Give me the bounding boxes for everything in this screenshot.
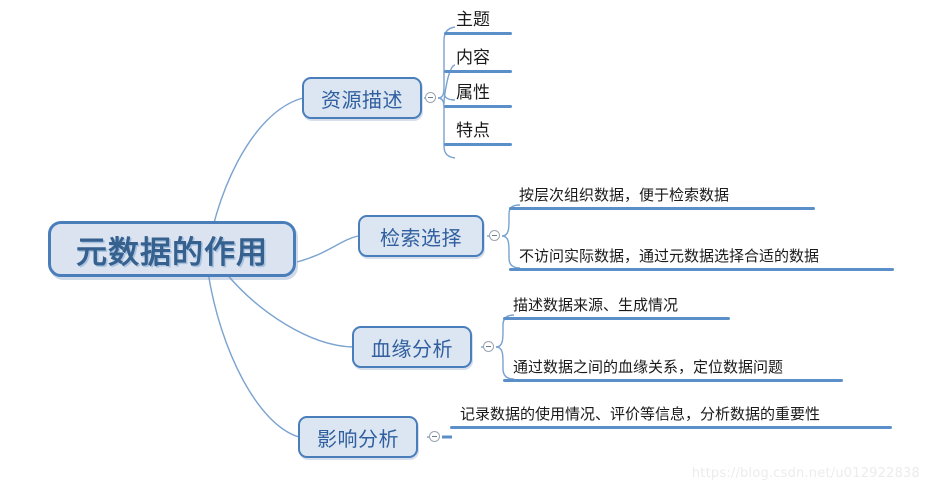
root-node-label: 元数据的作用 xyxy=(76,227,268,272)
leaf-label: 不访问实际数据，通过元数据选择合适的数据 xyxy=(509,247,894,268)
leaf-underline xyxy=(509,268,894,271)
leaf-label: 主题 xyxy=(444,11,512,32)
topic-node-lineage-analysis[interactable]: 血缘分析 xyxy=(352,326,472,368)
leaf-item[interactable]: 特点 xyxy=(444,118,512,146)
minus-circle-icon-lineage-analysis[interactable] xyxy=(483,341,494,352)
topic-label: 检索选择 xyxy=(380,222,462,251)
leaf-item[interactable]: 记录数据的使用情况、评价等信息，分析数据的重要性 xyxy=(450,405,892,429)
leaf-underline xyxy=(503,379,843,382)
root-node[interactable]: 元数据的作用 xyxy=(48,221,296,277)
leaf-underline xyxy=(444,70,512,73)
leaf-item[interactable]: 不访问实际数据，通过元数据选择合适的数据 xyxy=(509,247,894,271)
minus-circle-icon-retrieval-selection[interactable] xyxy=(489,230,500,241)
topic-node-impact-analysis[interactable]: 影响分析 xyxy=(298,416,418,458)
minus-circle-icon-resource-description[interactable] xyxy=(425,92,436,103)
leaf-label: 描述数据来源、生成情况 xyxy=(503,296,730,317)
watermark-text: https://blog.csdn.net/u012922838 xyxy=(692,466,920,481)
topic-node-resource-description[interactable]: 资源描述 xyxy=(302,77,422,119)
leaf-item[interactable]: 内容 xyxy=(444,45,512,73)
leaf-label: 通过数据之间的血缘关系，定位数据问题 xyxy=(503,358,843,379)
leaf-label: 属性 xyxy=(444,84,512,105)
topic-label: 资源描述 xyxy=(321,84,403,113)
leaf-label: 特点 xyxy=(444,122,512,143)
leaf-item[interactable]: 通过数据之间的血缘关系，定位数据问题 xyxy=(503,358,843,382)
leaf-item[interactable]: 主题 xyxy=(444,7,512,35)
mindmap-canvas: 元数据的作用 资源描述 主题 内容 属性 特点 检索选择 按层次组织数据，便于检… xyxy=(0,0,926,487)
leaf-underline xyxy=(444,143,512,146)
leaf-underline xyxy=(509,207,815,210)
topic-label: 影响分析 xyxy=(317,423,399,452)
leaf-underline xyxy=(503,317,730,320)
topic-node-retrieval-selection[interactable]: 检索选择 xyxy=(358,215,484,257)
leaf-label: 记录数据的使用情况、评价等信息，分析数据的重要性 xyxy=(450,405,892,426)
leaf-underline xyxy=(450,426,892,429)
leaf-item[interactable]: 按层次组织数据，便于检索数据 xyxy=(509,186,815,210)
topic-label: 血缘分析 xyxy=(371,333,453,362)
leaf-underline xyxy=(444,32,512,35)
leaf-label: 内容 xyxy=(444,49,512,70)
leaf-underline xyxy=(444,105,512,108)
leaf-item[interactable]: 描述数据来源、生成情况 xyxy=(503,296,730,320)
leaf-item[interactable]: 属性 xyxy=(444,80,512,108)
minus-circle-icon-impact-analysis[interactable] xyxy=(429,431,440,442)
leaf-label: 按层次组织数据，便于检索数据 xyxy=(509,186,815,207)
